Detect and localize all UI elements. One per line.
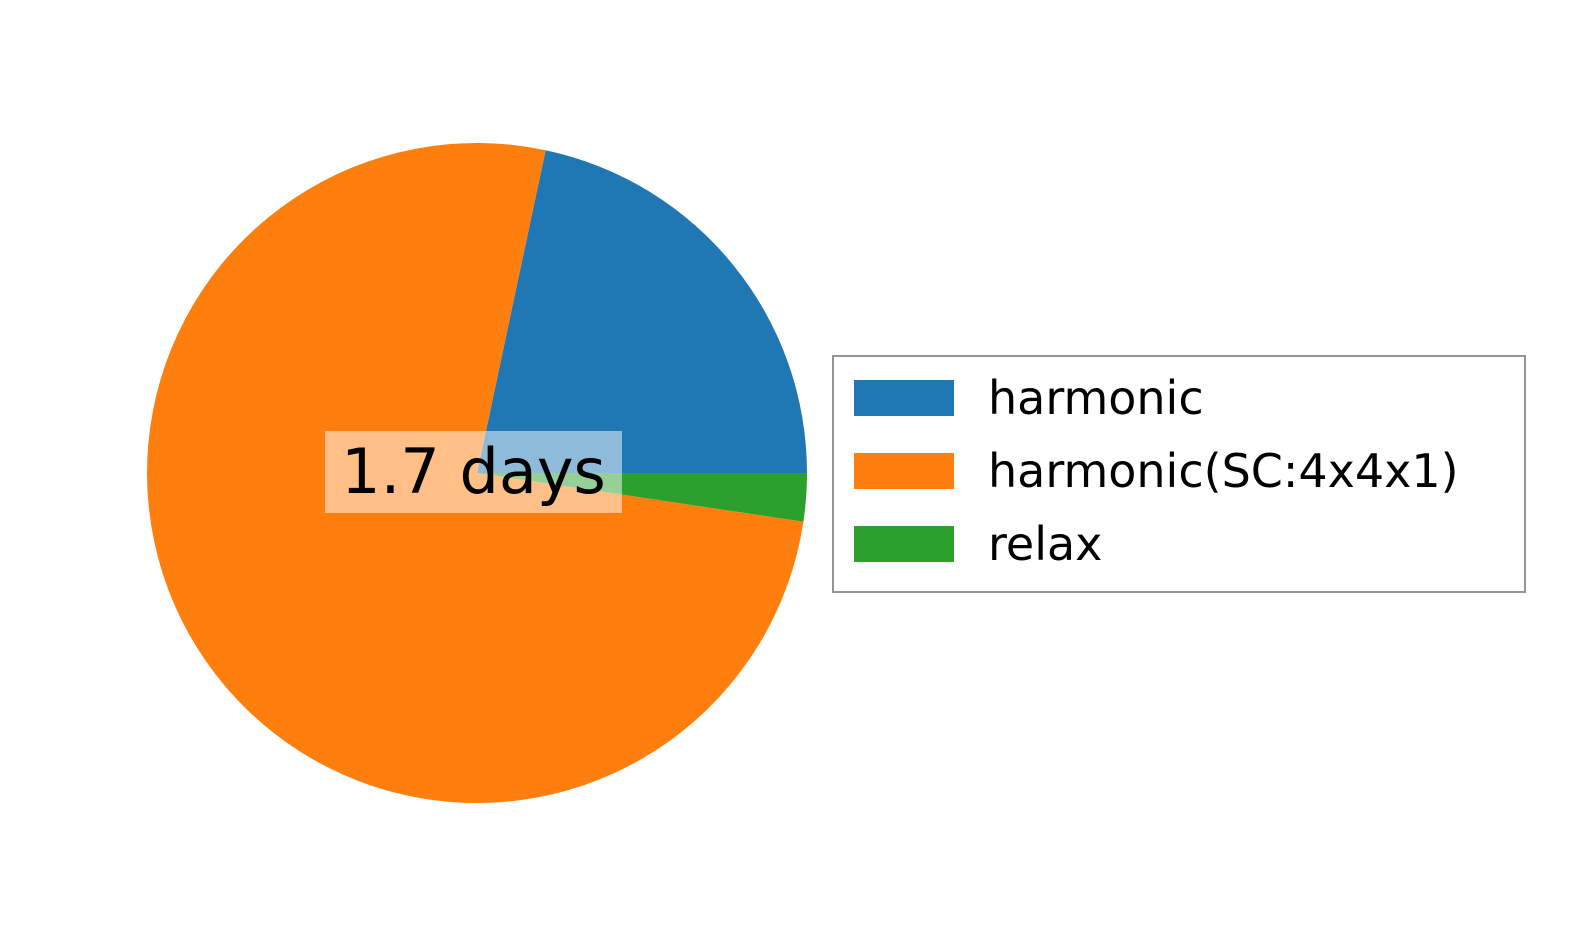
legend-item-harmonic-sc-4x4x1[interactable]: harmonic(SC:4x4x1): [834, 448, 1459, 494]
pie-center-annotation-box: 1.7 days: [325, 431, 622, 513]
legend-label-harmonic: harmonic: [988, 375, 1204, 421]
harmonic-sc-4x4x1-swatch: [854, 453, 954, 489]
legend-label-relax: relax: [988, 521, 1102, 567]
pie-chart-axes: 1.7 days: [0, 0, 951, 951]
relax-swatch: [854, 526, 954, 562]
legend-item-harmonic[interactable]: harmonic: [834, 375, 1204, 421]
legend-label-harmonic-sc-4x4x1: harmonic(SC:4x4x1): [988, 448, 1459, 494]
pie-center-annotation-text: 1.7 days: [341, 441, 606, 503]
legend-item-relax[interactable]: relax: [834, 521, 1102, 567]
chart-legend: harmonic harmonic(SC:4x4x1) relax: [832, 355, 1526, 593]
figure-canvas: 1.7 days harmonic harmonic(SC:4x4x1) rel…: [0, 0, 1584, 951]
harmonic-swatch: [854, 380, 954, 416]
